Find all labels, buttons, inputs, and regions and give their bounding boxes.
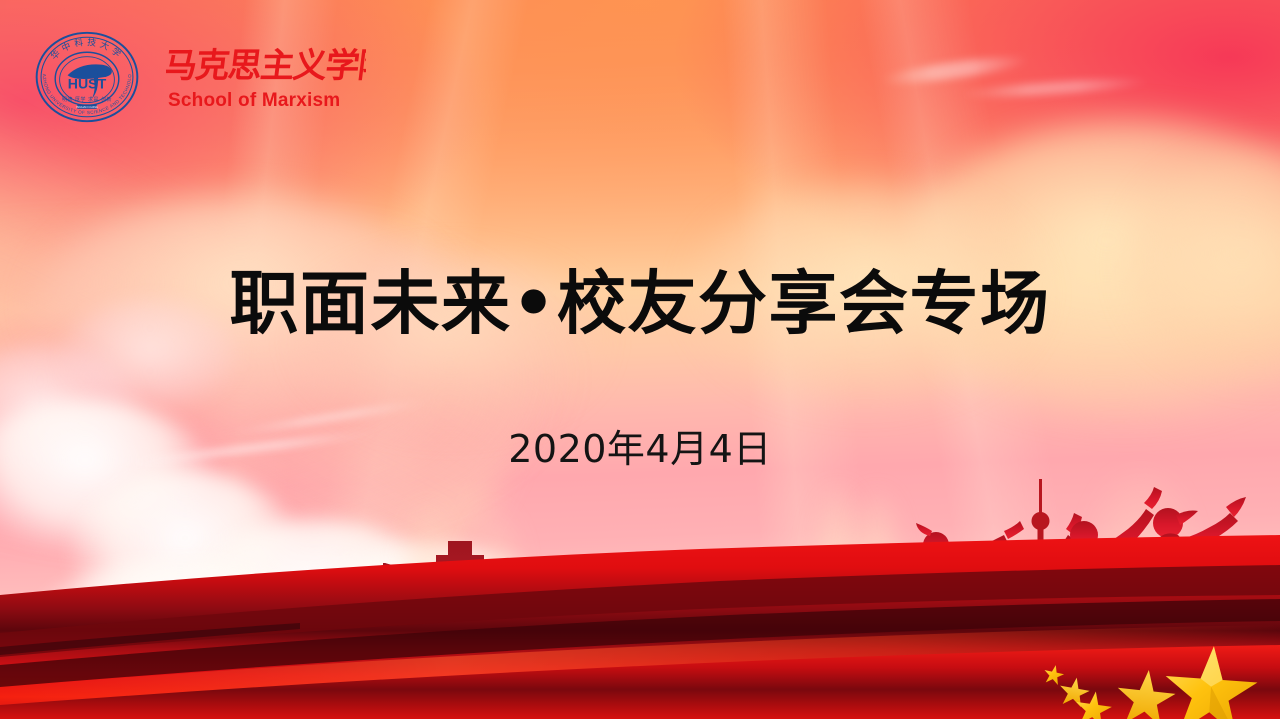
star-shape (1114, 667, 1177, 719)
logo-founded: WUHAN CHINA (76, 105, 98, 109)
main-title: 职面未来•校友分享会专场 (0, 268, 1280, 340)
school-name-cn-text: 马克思主义学院 (166, 46, 366, 86)
event-date: 2020年4月4日 (0, 418, 1280, 473)
five-golden-stars (1020, 619, 1280, 719)
hust-seal-logo: 华中科技大学 HUAZHONG UNIVERSITY OF SCIENCE AN… (34, 24, 140, 130)
presentation-slide: 华中科技大学 HUAZHONG UNIVERSITY OF SCIENCE AN… (0, 0, 1280, 719)
logo-inner-text: HUST (68, 75, 107, 91)
school-name-block: 马克思主义学院 School of Marxism (166, 43, 366, 112)
school-name-cn-calligraphy: 马克思主义学院 (166, 43, 366, 89)
star-shape (1162, 643, 1260, 719)
logo-motto: 明德 厚学 求是 创新 (62, 96, 112, 103)
star-shape (1042, 663, 1066, 686)
school-name-en: School of Marxism (166, 91, 366, 112)
slide-header: 华中科技大学 HUAZHONG UNIVERSITY OF SCIENCE AN… (0, 0, 366, 130)
title-block: 职面未来•校友分享会专场 (0, 268, 1280, 340)
